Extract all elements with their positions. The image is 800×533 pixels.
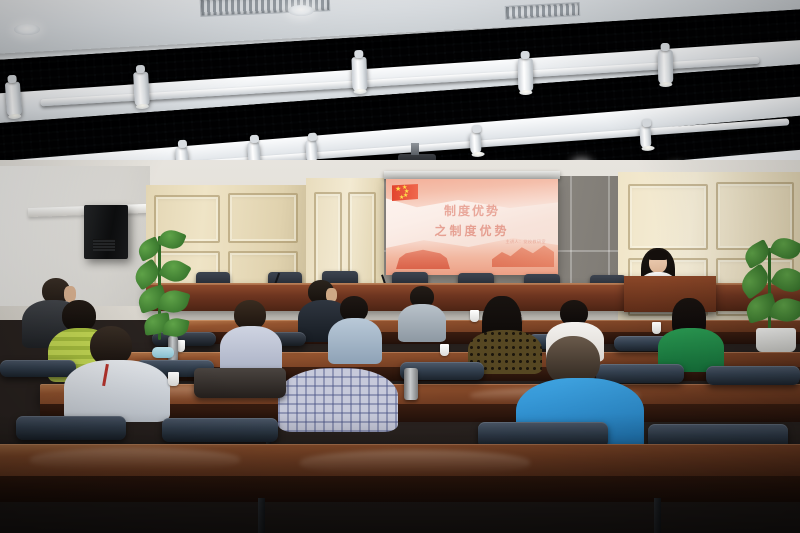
chair [0,360,76,377]
wall-speaker [84,205,128,259]
paper-cup [168,372,179,386]
presenter-hair-front [648,250,668,260]
recessed-downlight [288,5,314,16]
track-spotlight [469,132,481,155]
projection-screen: ★ ★ ★ ★ ★ 制度优势 之制度优势 主讲人：党校教研室 [386,179,558,275]
conference-room-photo: ★ ★ ★ ★ ★ 制度优势 之制度优势 主讲人：党校教研室 [0,0,800,533]
track-spotlight [305,140,318,163]
chair [16,416,126,440]
paper-cup [440,344,449,356]
torso [398,304,446,342]
plant-pot [756,328,796,352]
track-spotlight [5,82,22,117]
screen-subtitle-text: 之制度优势 [386,222,558,239]
chair [162,418,278,442]
torso [64,360,170,422]
screen-title-text: 制度优势 [386,202,558,219]
paper-cup [652,322,661,334]
plant-stem [768,248,771,334]
track-spotlight [639,126,651,149]
leather-bag [194,368,286,398]
thermos-bottle [404,368,418,400]
torso [220,326,282,374]
desk-reflection [30,448,240,470]
face-mask [152,347,174,358]
screen-byline-text: 主讲人：党校教研室 [506,239,547,245]
track-spotlight [518,58,534,92]
track-spotlight [351,57,367,92]
flag-star: ★ [395,187,401,193]
desk-apron [0,476,800,502]
chinese-flag-icon: ★ ★ ★ ★ ★ [392,184,418,201]
desk-reflection [300,450,530,474]
desk-leg [654,498,661,533]
track-spotlight [658,50,674,84]
panel-frame [628,184,708,250]
torso [278,368,398,432]
chair [706,366,800,385]
paper-cup [470,310,479,322]
track-spotlight [133,72,150,107]
desk-leg [258,498,265,533]
panel-frame [228,193,298,243]
recessed-downlight [14,24,40,35]
projection-screen-housing [384,171,560,179]
